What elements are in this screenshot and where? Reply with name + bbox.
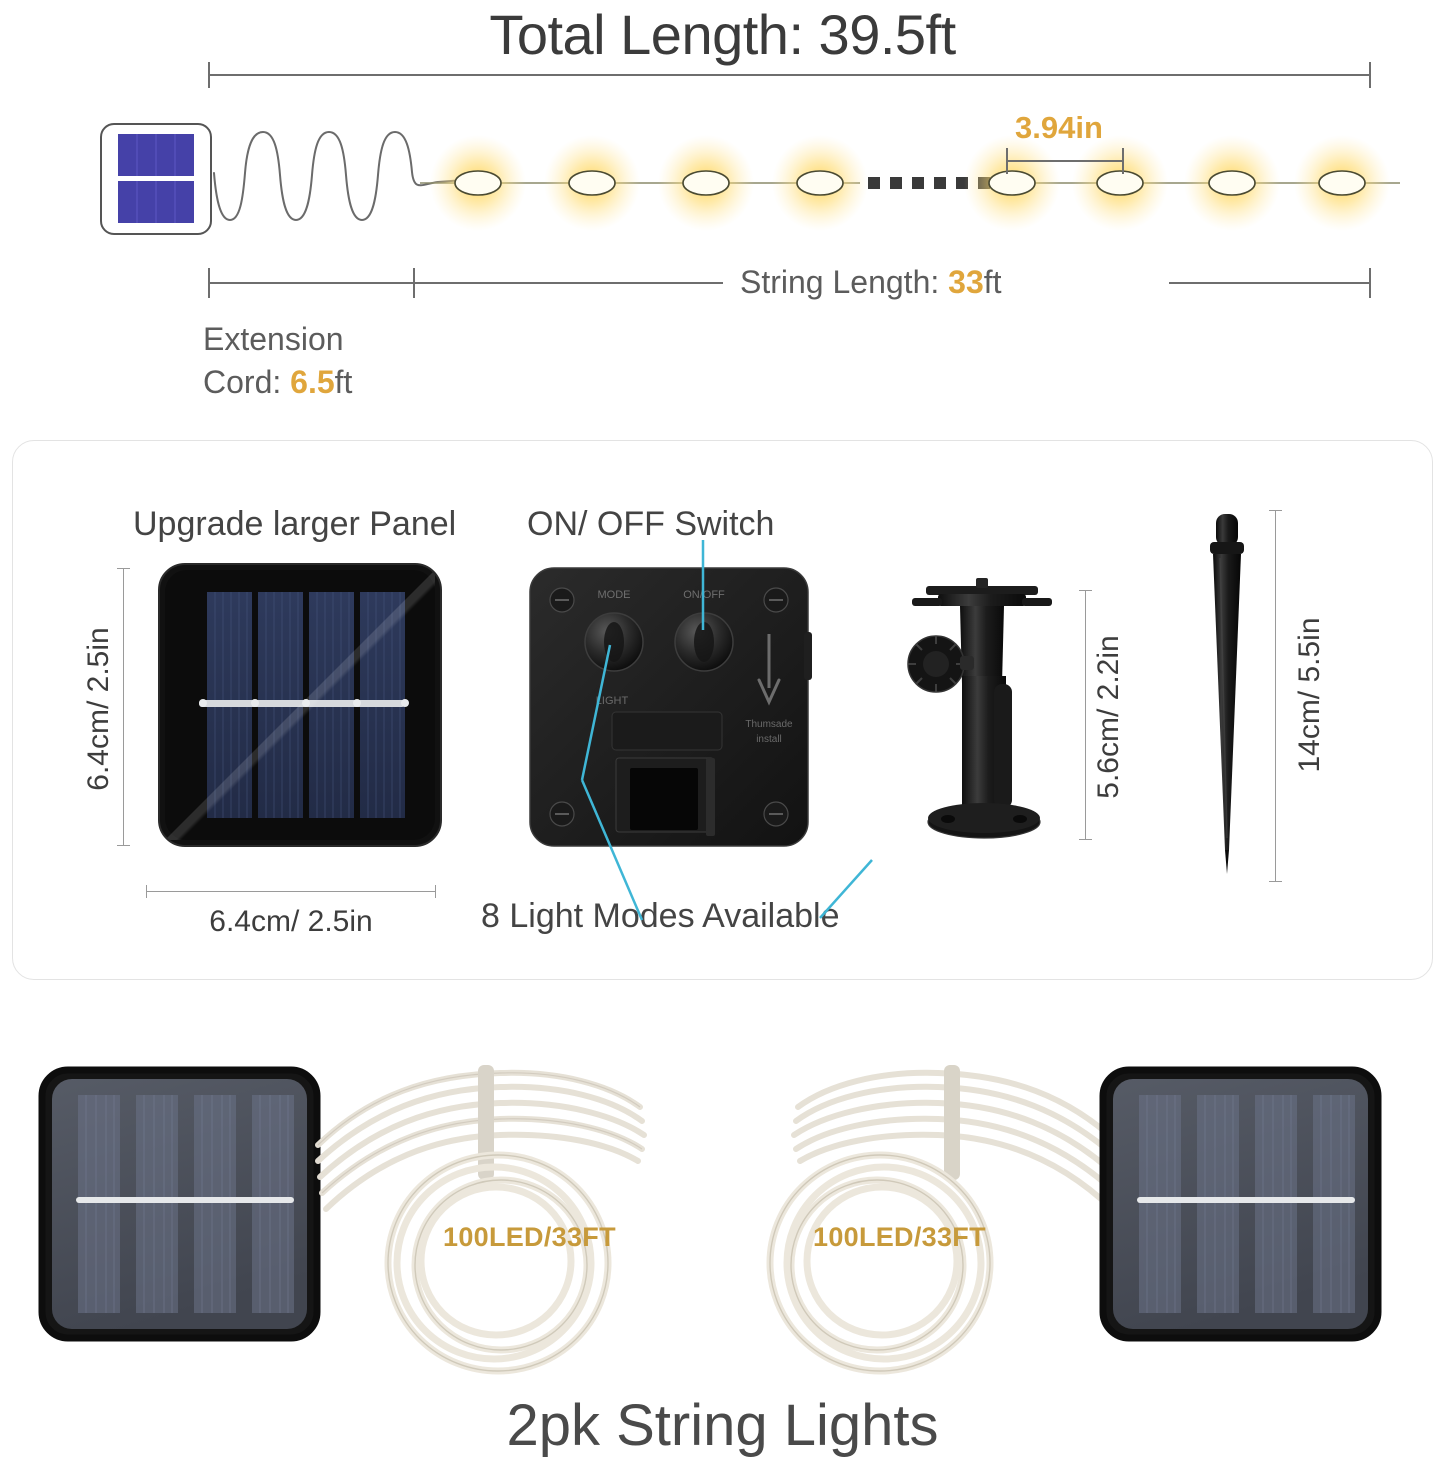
ground-stake-product-image <box>1196 508 1256 880</box>
svg-text:ON/OFF: ON/OFF <box>683 589 725 601</box>
mount-bracket-product-image <box>898 572 1066 850</box>
wire-bundle-left <box>318 1065 644 1371</box>
extension-cord-line2: Cord: 6.5ft <box>203 361 352 404</box>
led-caption-right: 100LED/33FT <box>813 1222 986 1253</box>
solar-panel-right <box>1103 1070 1378 1338</box>
product-infographic: Total Length: 39.5ft <box>0 0 1445 1473</box>
svg-text:Thumsade: Thumsade <box>745 719 793 730</box>
solar-panel-icon <box>100 123 212 235</box>
controller-product-image: MODE ON/OFF LIGHT Thumsade install <box>524 562 814 852</box>
string-length-label: String Length: 33ft <box>740 264 1002 301</box>
product-photo-group <box>0 1025 1445 1395</box>
upgrade-panel-title: Upgrade larger Panel <box>133 505 456 544</box>
mount-height-label: 5.6cm/ 2.2in <box>1092 592 1126 842</box>
stake-height-label: 14cm/ 5.5in <box>1293 509 1327 881</box>
bulb-spacing-rule <box>1006 148 1124 174</box>
bulb-spacing-label: 3.94in <box>1015 110 1103 146</box>
light-modes-title: 8 Light Modes Available <box>481 897 840 936</box>
panel-width-label: 6.4cm/ 2.5in <box>146 905 436 939</box>
svg-text:MODE: MODE <box>598 589 631 601</box>
solar-panel-left <box>42 1070 317 1338</box>
solar-panel-product-image <box>157 562 443 848</box>
extension-cord-line1: Extension <box>203 318 352 361</box>
total-length-dimension-rule <box>208 62 1371 88</box>
svg-text:install: install <box>756 734 782 745</box>
panel-width-rule <box>146 885 436 898</box>
svg-text:LIGHT: LIGHT <box>596 695 629 707</box>
product-title: 2pk String Lights <box>0 1392 1445 1459</box>
stake-height-rule <box>1262 510 1289 882</box>
led-string-illustration <box>420 128 1400 238</box>
page-title: Total Length: 39.5ft <box>0 2 1445 67</box>
panel-height-label: 6.4cm/ 2.5in <box>82 570 116 848</box>
onoff-switch-title: ON/ OFF Switch <box>527 505 774 544</box>
extension-cord-label: Extension Cord: 6.5ft <box>203 318 352 404</box>
wire-bundle-right <box>770 1065 1120 1371</box>
led-caption-left: 100LED/33FT <box>443 1222 616 1253</box>
